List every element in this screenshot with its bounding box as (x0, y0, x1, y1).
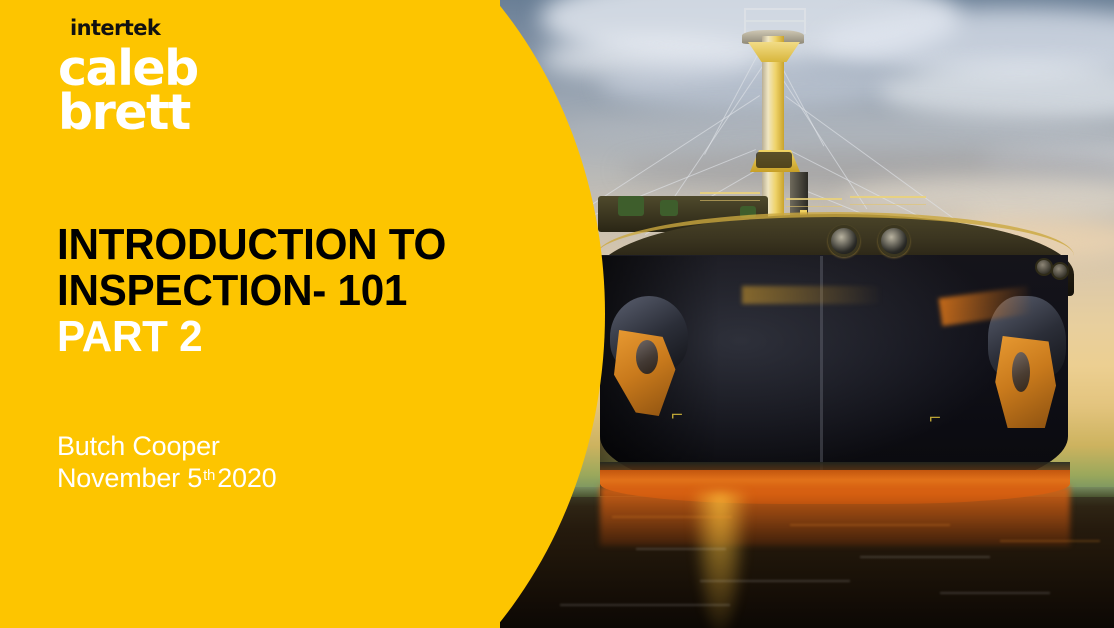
presenter-name: Butch Cooper (57, 432, 497, 461)
deck-railing (700, 192, 760, 206)
water-ripple (1000, 540, 1100, 542)
deck-equipment (660, 200, 678, 216)
date-day: 5 (187, 463, 202, 493)
title-line-1: INTRODUCTION TO (57, 222, 479, 268)
slide-content: intertek caleb brett INTRODUCTION TO INS… (0, 0, 520, 628)
deck-railing (850, 196, 926, 210)
date-ordinal: th (202, 467, 217, 484)
title-slide: ⌐ ⌐ intertek caleb brett INTRODUCTION TO… (0, 0, 1114, 628)
port-anchor-shadow (636, 340, 658, 374)
date-year: 2020 (217, 463, 276, 493)
date-month: November (57, 463, 180, 493)
byline: Butch Cooper November 5th2020 (57, 432, 497, 493)
porthole (878, 225, 910, 257)
hawse-pipe (1035, 258, 1053, 276)
draft-mark: ⌐ (671, 405, 683, 425)
deck-equipment (618, 196, 644, 216)
logo-wordmark-line2: brett (58, 92, 288, 134)
water-ripple (612, 516, 732, 518)
sun-reflection (690, 492, 750, 628)
hull-rust-streak (742, 286, 882, 304)
water-ripple (940, 592, 1050, 594)
water-ripple (790, 524, 950, 526)
water-ripple (636, 548, 726, 550)
title-line-2: INSPECTION- 101 (57, 268, 479, 314)
water-ripple (860, 556, 990, 558)
deck-railing (786, 198, 842, 212)
logo-intertek-mark: intertek (70, 18, 288, 39)
title-line-3: PART 2 (57, 314, 479, 360)
starboard-anchor-shadow (1012, 352, 1030, 392)
water-ripple (700, 580, 850, 582)
draft-mark: ⌐ (929, 408, 941, 428)
water-ripple (560, 604, 730, 606)
hawse-pipe (1051, 262, 1069, 280)
rigging-wire (771, 62, 867, 209)
mast-equipment-box (756, 152, 792, 168)
presentation-date: November 5th2020 (57, 461, 497, 493)
page-title: INTRODUCTION TO INSPECTION- 101 PART 2 (57, 222, 497, 360)
porthole (828, 225, 860, 257)
logo: intertek caleb brett (58, 18, 288, 134)
